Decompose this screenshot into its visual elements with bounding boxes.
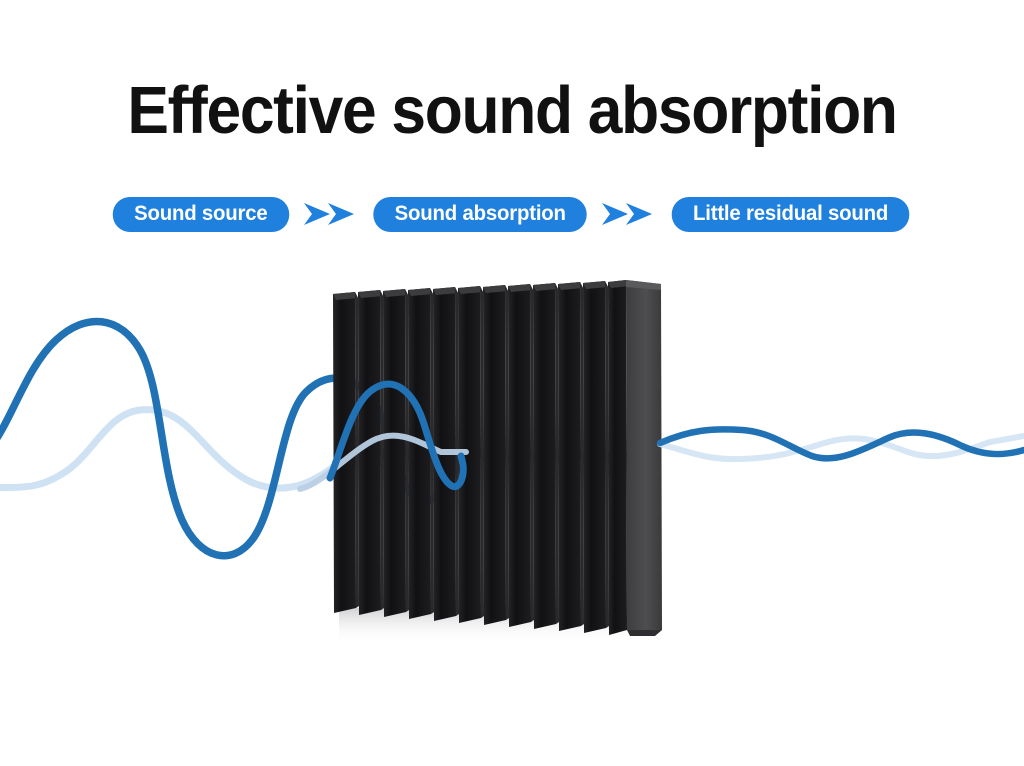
promo-banner: Effective sound absorption Sound source … [0,0,1024,766]
absorbed-secondary-wave [300,436,466,489]
residual-primary-wave [660,429,1024,458]
wave-layer-in-front-of-foam [0,0,1024,766]
sound-absorption-illustration [0,0,1024,766]
